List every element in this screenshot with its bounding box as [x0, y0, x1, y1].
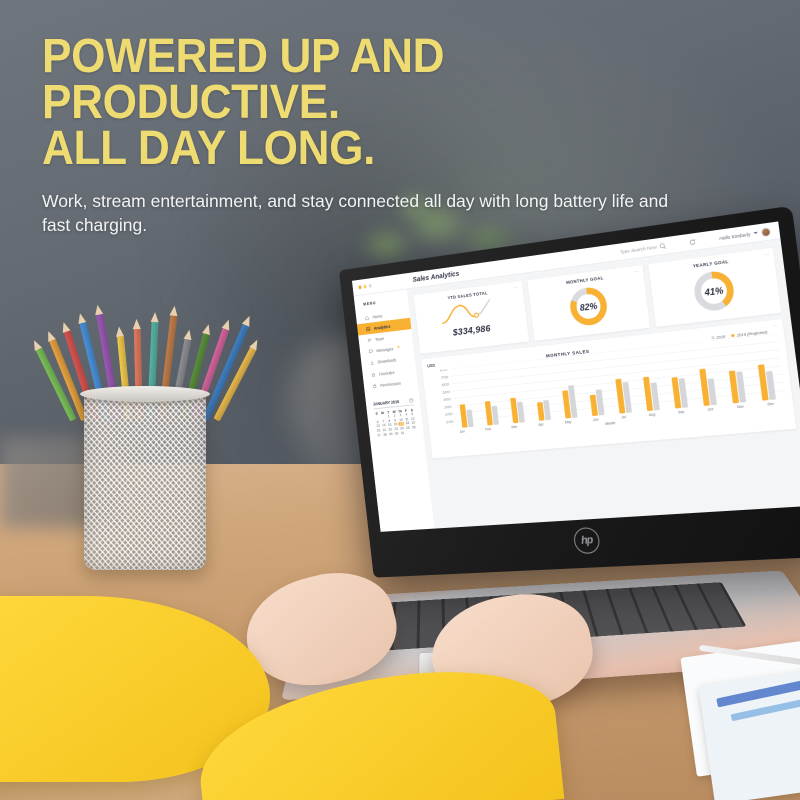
svg-text:200: 200 — [444, 412, 454, 417]
sidebar-item-label: Messages — [376, 347, 394, 354]
headline-line-1: POWERED UP AND PRODUCTIVE. — [42, 34, 686, 126]
calendar-grid[interactable]: SMTWThFS12345678910111213141516171819202… — [374, 408, 417, 437]
download-icon — [370, 360, 375, 365]
search-icon[interactable] — [659, 242, 667, 250]
unread-badge — [398, 346, 400, 348]
card-yearly-goal[interactable]: ... YEARLY GOAL 41% — [649, 248, 782, 327]
search-box[interactable]: Type Search Here — [619, 242, 667, 255]
home-icon — [364, 315, 369, 320]
card-menu-icon[interactable]: ... — [634, 270, 640, 274]
papers-group — [680, 628, 800, 800]
sidebar-item-label: Downloads — [377, 358, 396, 365]
hero-subhead: Work, stream entertainment, and stay con… — [42, 190, 682, 237]
calendar-empty-cell — [405, 430, 411, 434]
window-maximize-dot[interactable] — [369, 284, 372, 288]
avatar[interactable] — [760, 226, 771, 237]
chevron-down-icon[interactable] — [753, 232, 758, 235]
laptop-lid: hp Sales Analytics Type Search Here — [339, 206, 800, 578]
card-value: 41% — [703, 285, 725, 298]
calendar-month-label: JANUARY 2019 — [373, 399, 400, 406]
legend-swatch — [711, 336, 715, 339]
search-input[interactable]: Type Search Here — [620, 244, 657, 254]
calendar-day[interactable]: 28 — [382, 432, 388, 436]
window-controls[interactable] — [353, 279, 406, 289]
card-menu-icon[interactable]: ... — [763, 252, 769, 256]
svg-text:100: 100 — [446, 419, 455, 424]
page-title: Sales Analytics — [412, 270, 459, 283]
card-ytd-sales-total[interactable]: ... YTD SALES TOTAL $334,986 — [414, 281, 529, 354]
svg-text:600: 600 — [441, 382, 450, 387]
people-icon — [367, 338, 372, 343]
mesh-pencil-cup — [84, 392, 206, 570]
chart-icon — [366, 326, 371, 331]
main-content: ... YTD SALES TOTAL $334,986 — [407, 239, 800, 528]
svg-text:500: 500 — [442, 390, 451, 395]
refresh-icon[interactable] — [689, 238, 697, 246]
calendar-day[interactable]: 27 — [376, 433, 382, 437]
window-minimize-dot[interactable] — [364, 285, 367, 289]
sidebar-item-label: Favorites — [379, 370, 395, 376]
pencil-cup-rim — [80, 386, 210, 402]
sidebar-item-label: Home — [372, 313, 383, 319]
calendar-empty-cell — [411, 430, 417, 434]
calendar-day[interactable]: 31 — [400, 431, 406, 435]
card-menu-icon[interactable]: ... — [513, 285, 518, 289]
hp-logo: hp — [573, 527, 601, 554]
sidebar-items: HomeAnalyticsTeamMessagesDownloadsFavori… — [356, 306, 418, 392]
headline-line-2: ALL DAY LONG. — [42, 126, 686, 172]
calendar-day[interactable]: 30 — [394, 431, 400, 435]
svg-text:300: 300 — [444, 405, 453, 410]
calendar-widget[interactable]: JANUARY 2019 SMTWThFS1234567891011121314… — [373, 398, 418, 437]
window-close-dot[interactable] — [359, 285, 362, 289]
calendar-day[interactable]: 29 — [388, 432, 394, 436]
card-monthly-goal[interactable]: ... MONTHLY GOAL 82% — [527, 265, 650, 341]
svg-text:700: 700 — [440, 375, 449, 380]
laptop-screen: Sales Analytics Type Search Here Hello K… — [352, 221, 800, 531]
legend-swatch — [731, 334, 735, 337]
sidebar-item-label: Team — [375, 336, 385, 342]
chart-menu-icon[interactable]: ... — [773, 324, 779, 328]
dashboard-app: Sales Analytics Type Search Here Hello K… — [352, 221, 800, 531]
sidebar-item-label: Analytics — [373, 324, 390, 331]
hero-headline-block: POWERED UP AND PRODUCTIVE. ALL DAY LONG.… — [42, 34, 742, 237]
chat-icon — [368, 349, 373, 354]
sidebar-item-label: Permissions — [380, 381, 401, 388]
star-icon — [371, 372, 376, 377]
svg-text:400: 400 — [443, 397, 452, 402]
lock-icon — [372, 383, 377, 388]
card-value: 82% — [579, 300, 598, 313]
calendar-icon[interactable] — [409, 398, 414, 403]
pencil-cup-group — [62, 300, 232, 580]
y-axis-label: USD — [427, 363, 435, 369]
